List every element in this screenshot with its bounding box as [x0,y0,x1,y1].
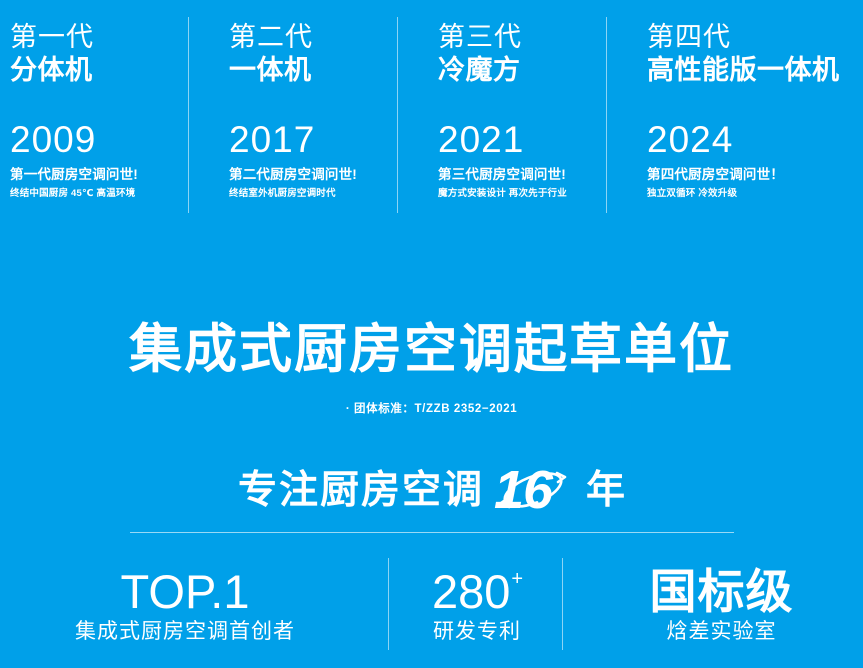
stat-value-superscript: + [511,568,523,590]
generation-headline: 第三代厨房空调问世! [438,167,627,183]
stat-caption: 集成式厨房空调首创者 [0,619,370,644]
generation-subtext: 独立双循环 冷效升级 [647,188,863,199]
stat-divider [388,558,389,650]
generation-subtext: 终结室外机厨房空调时代 [229,188,418,199]
promo-poster: { "theme": { "background": "#00a0e9", "t… [0,0,863,668]
stat-item-patents: 280+ 研发专利 [392,568,562,644]
generation-subtext: 终结中国厨房 45℃ 高温环境 [10,188,209,199]
hero-section: 集成式厨房空调起草单位 · 团体标准：T/ZZB 2352−2021 [0,320,863,416]
years-focus-line: 专注厨房空调 16 年 [0,459,863,521]
generation-label: 第四代 [647,22,863,54]
generation-label: 第一代 [10,22,209,54]
generation-product-name: 分体机 [10,54,209,88]
stat-item-top1: TOP.1 集成式厨房空调首创者 [0,568,392,644]
years-number-badge: 16 [485,459,581,521]
generation-headline: 第二代厨房空调问世! [229,167,418,183]
section-divider [130,532,734,533]
generation-product-name: 冷魔方 [438,54,627,88]
stat-value-text: 280 [432,565,510,618]
generation-headline: 第一代厨房空调问世! [10,167,209,183]
stat-caption: 研发专利 [392,619,562,644]
stat-value: 280+ [392,568,562,616]
stat-value: 国标级 [580,568,863,616]
column-divider [397,17,398,213]
generation-column-2: 第二代 一体机 2017 第二代厨房空调问世! 终结室外机厨房空调时代 [209,0,418,232]
generation-product-name: 高性能版一体机 [647,54,863,88]
years-prefix-label: 专注厨房空调 [238,471,484,510]
stat-value: TOP.1 [0,568,370,616]
stat-caption: 焓差实验室 [580,619,863,644]
generation-headline: 第四代厨房空调问世！ [647,167,863,183]
generation-product-name: 一体机 [229,54,418,88]
stat-value-text: TOP.1 [121,565,250,618]
stats-row: TOP.1 集成式厨房空调首创者 280+ 研发专利 国标级 焓差实验室 [0,552,863,660]
generation-column-1: 第一代 分体机 2009 第一代厨房空调问世! 终结中国厨房 45℃ 高温环境 [0,0,209,232]
generation-year: 2024 [647,121,863,158]
generation-column-4: 第四代 高性能版一体机 2024 第四代厨房空调问世！ 独立双循环 冷效升级 [627,0,863,232]
stat-value-text: 国标级 [650,565,794,618]
standard-reference: · 团体标准：T/ZZB 2352−2021 [0,400,863,416]
generation-year: 2009 [10,121,209,158]
stat-divider [562,558,563,650]
generation-year: 2021 [438,121,627,158]
stat-item-lab: 国标级 焓差实验室 [562,568,863,644]
column-divider [606,17,607,213]
generation-label: 第三代 [438,22,627,54]
generation-timeline: 第一代 分体机 2009 第一代厨房空调问世! 终结中国厨房 45℃ 高温环境 … [0,0,863,232]
page-title: 集成式厨房空调起草单位 [0,320,863,379]
column-divider [188,17,189,213]
generation-year: 2017 [229,121,418,158]
generation-label: 第二代 [229,22,418,54]
years-unit-label: 年 [586,471,625,510]
years-number: 16 [494,461,552,519]
generation-column-3: 第三代 冷魔方 2021 第三代厨房空调问世! 魔方式安装设计 再次先于行业 [418,0,627,232]
generation-subtext: 魔方式安装设计 再次先于行业 [438,188,627,199]
